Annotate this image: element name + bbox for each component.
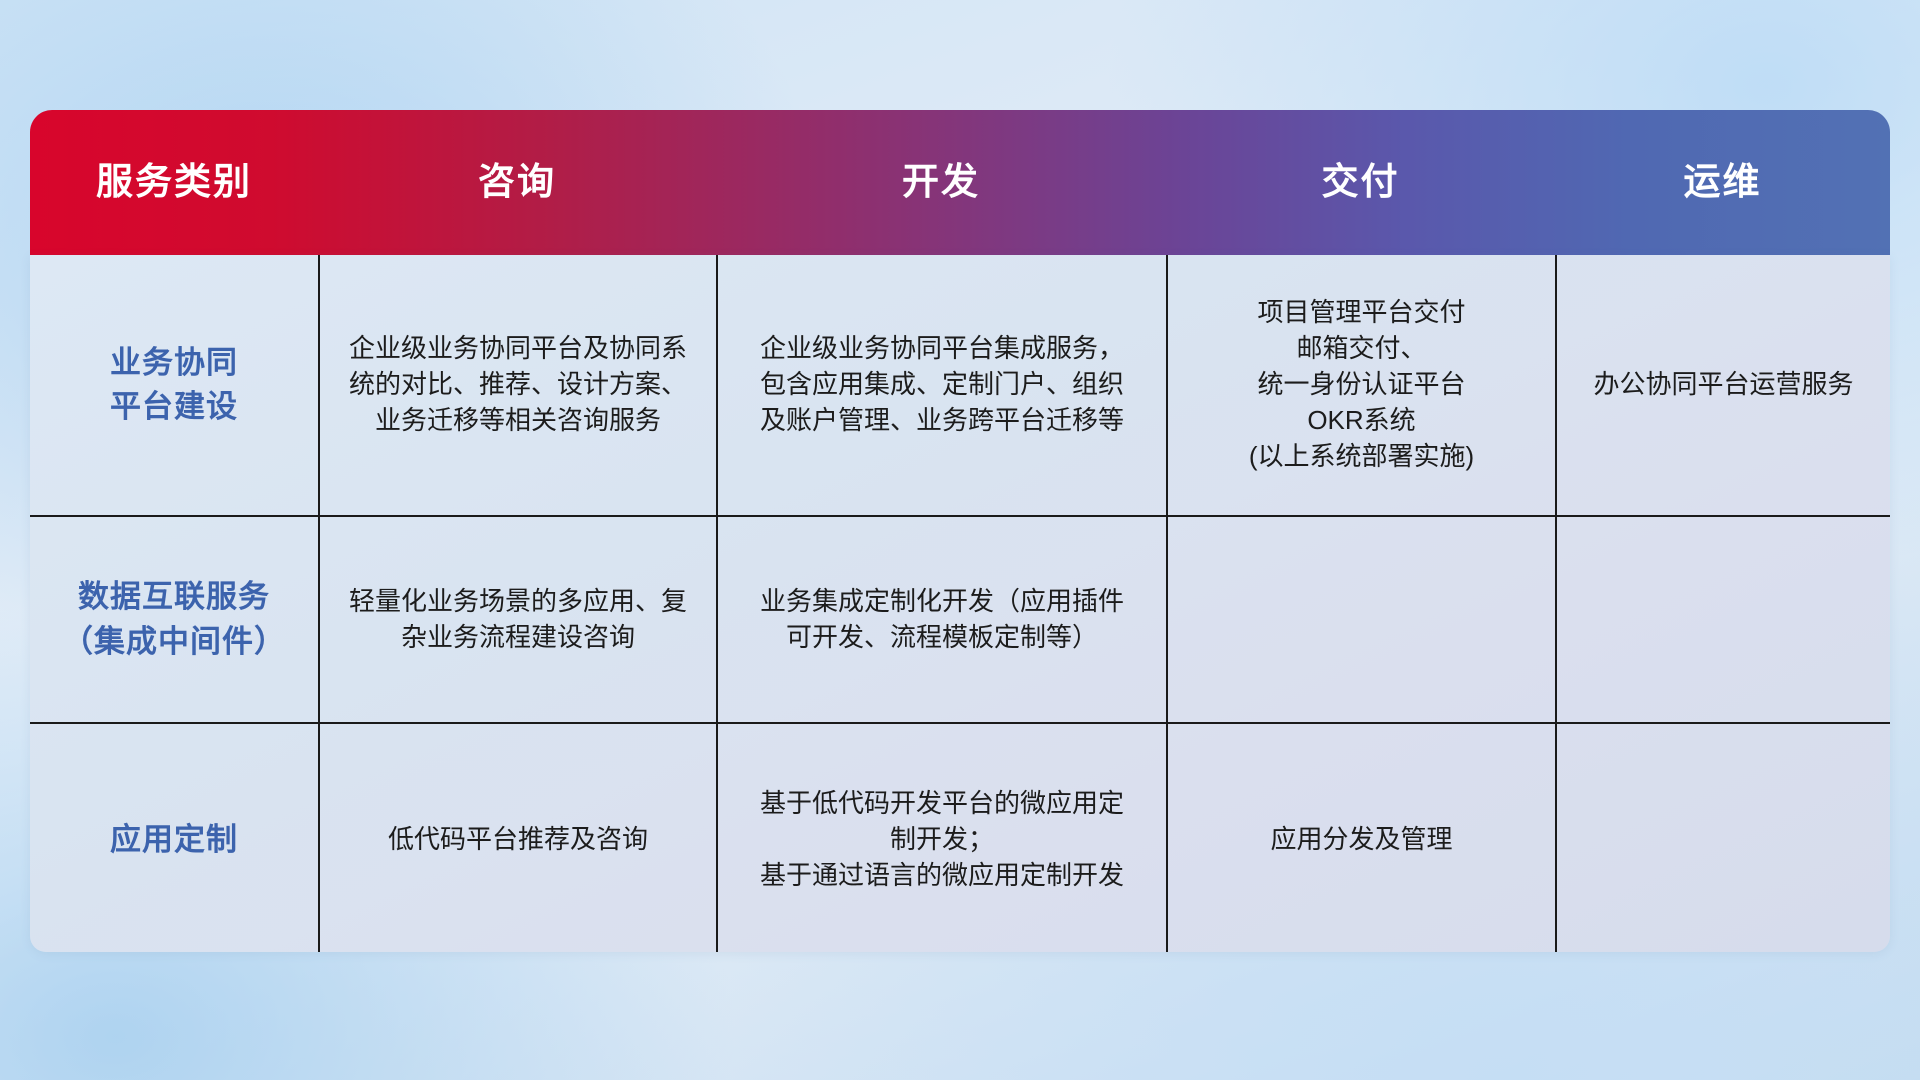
- column-header-consulting: 咨询: [318, 162, 716, 203]
- table-header-row: 服务类别 咨询 开发 交付 运维: [30, 110, 1890, 255]
- column-header-operations: 运维: [1555, 162, 1890, 203]
- cell-delivery: 项目管理平台交付 邮箱交付、 统一身份认证平台 OKR系统 (以上系统部署实施): [1166, 255, 1555, 515]
- cell-development: 企业级业务协同平台集成服务， 包含应用集成、定制门户、组织 及账户管理、业务跨平…: [716, 255, 1166, 515]
- cell-operations: [1555, 724, 1890, 952]
- table-body: 业务协同 平台建设 企业级业务协同平台及协同系 统的对比、推荐、设计方案、 业务…: [30, 255, 1890, 952]
- cell-consulting: 低代码平台推荐及咨询: [318, 724, 716, 952]
- service-matrix-table: 服务类别 咨询 开发 交付 运维 业务协同 平台建设 企业级业务协同平台及协同系…: [30, 110, 1890, 952]
- table-row: 应用定制 低代码平台推荐及咨询 基于低代码开发平台的微应用定 制开发； 基于通过…: [30, 724, 1890, 952]
- column-header-development: 开发: [716, 162, 1166, 203]
- row-label-business-collaboration: 业务协同 平台建设: [30, 255, 318, 515]
- cell-consulting: 轻量化业务场景的多应用、复 杂业务流程建设咨询: [318, 517, 716, 722]
- cell-operations: [1555, 517, 1890, 722]
- cell-consulting: 企业级业务协同平台及协同系 统的对比、推荐、设计方案、 业务迁移等相关咨询服务: [318, 255, 716, 515]
- table-row: 数据互联服务 （集成中间件） 轻量化业务场景的多应用、复 杂业务流程建设咨询 业…: [30, 517, 1890, 724]
- cell-delivery: 应用分发及管理: [1166, 724, 1555, 952]
- column-header-category: 服务类别: [30, 162, 318, 203]
- cell-development: 基于低代码开发平台的微应用定 制开发； 基于通过语言的微应用定制开发: [716, 724, 1166, 952]
- column-header-delivery: 交付: [1166, 162, 1555, 203]
- row-label-app-customization: 应用定制: [30, 724, 318, 952]
- row-label-data-integration: 数据互联服务 （集成中间件）: [30, 517, 318, 722]
- cell-operations: 办公协同平台运营服务: [1555, 255, 1890, 515]
- slide-canvas: 服务类别 咨询 开发 交付 运维 业务协同 平台建设 企业级业务协同平台及协同系…: [0, 0, 1920, 1080]
- cell-development: 业务集成定制化开发（应用插件 可开发、流程模板定制等）: [716, 517, 1166, 722]
- cell-delivery: [1166, 517, 1555, 722]
- table-row: 业务协同 平台建设 企业级业务协同平台及协同系 统的对比、推荐、设计方案、 业务…: [30, 255, 1890, 517]
